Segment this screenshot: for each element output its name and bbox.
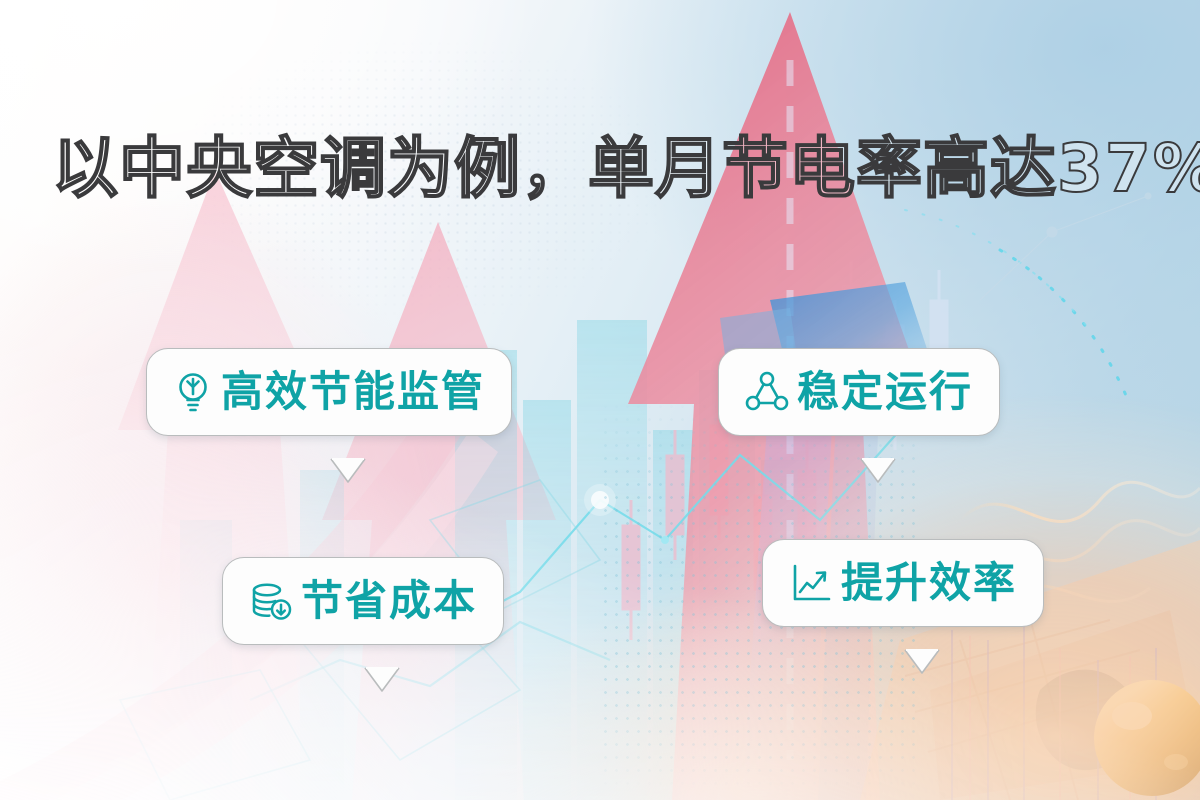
banner-headline: 以中央空调为例，单月节电率高达37% (52, 131, 1152, 207)
feature-badge-label: 提升效率 (841, 560, 1017, 606)
feature-badge-label: 稳定运行 (797, 369, 973, 415)
lightbulb-icon (173, 370, 213, 414)
coin-stack-down-icon (249, 579, 293, 623)
feature-badge-improve-efficiency[interactable]: 提升效率 (762, 539, 1044, 627)
feature-badge-cost-saving[interactable]: 节省成本 (222, 557, 504, 645)
feature-badge-efficient-energy-supervision[interactable]: 高效节能监管 (146, 348, 512, 436)
network-nodes-icon (745, 370, 789, 414)
chart-trend-up-icon (789, 561, 833, 605)
headline-text: 以中央空调为例，单月节电率高达 (52, 130, 1057, 207)
feature-badge-label: 高效节能监管 (221, 369, 485, 415)
feature-badge-label: 节省成本 (301, 578, 477, 624)
headline-percent: 37% (1057, 130, 1200, 207)
banner-stage: 以中央空调为例，单月节电率高达37% 高效节能监管 (0, 0, 1200, 800)
feature-badge-stable-operation[interactable]: 稳定运行 (718, 348, 1000, 436)
